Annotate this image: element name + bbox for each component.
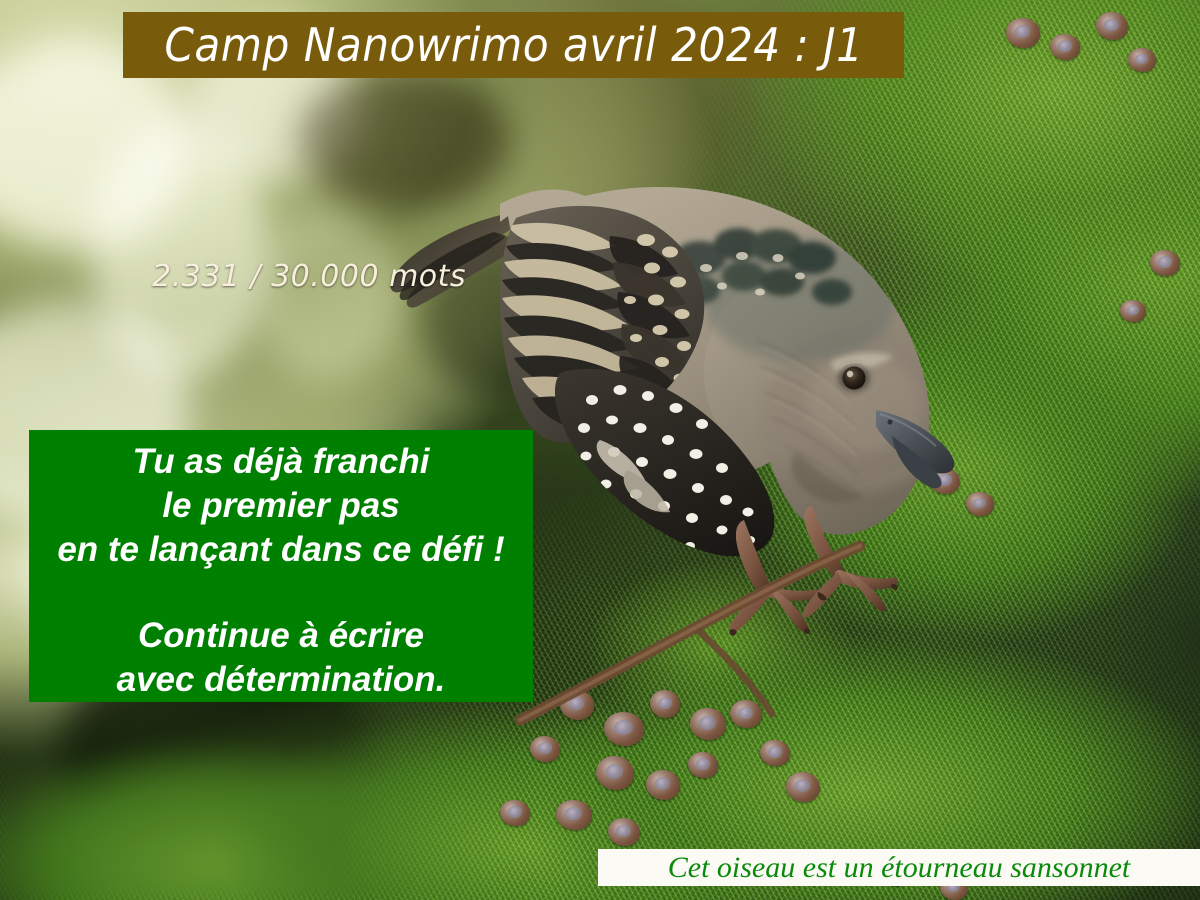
encouragement-message-box: Tu as déjà franchi le premier pas en te … xyxy=(29,430,533,702)
word-count-progress: 2.331 / 30.000 mots xyxy=(152,262,466,292)
message-line: le premier pas xyxy=(162,484,399,528)
poster-canvas: Camp Nanowrimo avril 2024 : J1 2.331 / 3… xyxy=(0,0,1200,900)
message-line: en te lançant dans ce défi ! xyxy=(57,528,504,572)
message-line: Tu as déjà franchi xyxy=(133,440,430,484)
message-line: Continue à écrire xyxy=(138,614,424,658)
bird-caption-text: Cet oiseau est un étourneau sansonnet xyxy=(668,853,1130,883)
bird-caption-strip: Cet oiseau est un étourneau sansonnet xyxy=(598,849,1200,886)
page-title: Camp Nanowrimo avril 2024 : J1 xyxy=(164,22,863,68)
message-line: avec détermination. xyxy=(117,658,446,702)
title-banner: Camp Nanowrimo avril 2024 : J1 xyxy=(123,12,904,78)
